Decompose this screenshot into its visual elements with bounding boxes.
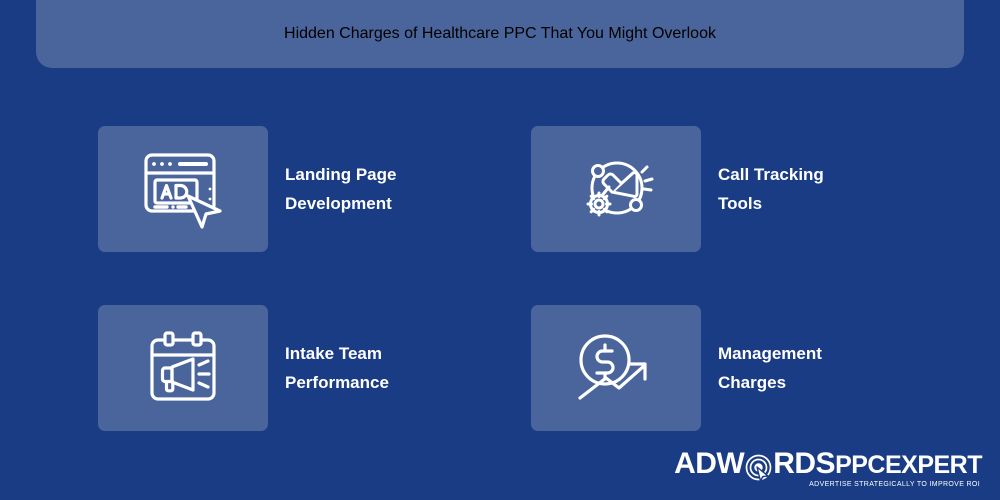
icon-card (98, 126, 268, 252)
icon-card (531, 305, 701, 431)
feature-label-line1: Landing Page (285, 160, 396, 189)
feature-item-management-charges[interactable]: Management Charges (531, 305, 934, 431)
feature-label-line2: Development (285, 189, 396, 218)
feature-label-line1: Call Tracking (718, 160, 824, 189)
feature-label-line2: Charges (718, 368, 822, 397)
bullseye-target-icon (745, 454, 772, 481)
feature-item-call-tracking-tools[interactable]: Call Tracking Tools (531, 126, 934, 252)
calendar-megaphone-icon (143, 328, 223, 408)
feature-item-landing-page-development[interactable]: Landing Page Development (98, 126, 501, 252)
page-title: Hidden Charges of Healthcare PPC That Yo… (284, 25, 716, 43)
dollar-growth-arrow-icon (572, 328, 660, 408)
feature-label-line1: Management (718, 339, 822, 368)
features-grid: Landing Page Development (98, 126, 934, 431)
megaphone-network-gear-icon (573, 148, 659, 230)
feature-label-line1: Intake Team (285, 339, 389, 368)
logo-tagline: ADVERTISE STRATEGICALLY TO IMPROVE ROI (809, 481, 980, 488)
feature-label: Management Charges (718, 339, 822, 397)
ad-browser-cursor-icon (140, 149, 226, 229)
icon-card (531, 126, 701, 252)
icon-card (98, 305, 268, 431)
logo-text-rds: RDS (773, 449, 835, 479)
brand-logo: ADW RDS PPCEXPERT ADVERTISE STRATEGICALL… (674, 449, 982, 488)
logo-text-ppcexpert: PPCEXPERT (835, 453, 982, 478)
feature-label-line2: Performance (285, 368, 389, 397)
feature-label: Intake Team Performance (285, 339, 389, 397)
header-banner: Hidden Charges of Healthcare PPC That Yo… (36, 0, 964, 68)
feature-label: Landing Page Development (285, 160, 396, 218)
feature-item-intake-team-performance[interactable]: Intake Team Performance (98, 305, 501, 431)
feature-label: Call Tracking Tools (718, 160, 824, 218)
logo-text-adw: ADW (674, 449, 744, 479)
logo-wordmark: ADW RDS PPCEXPERT (674, 449, 982, 479)
feature-label-line2: Tools (718, 189, 824, 218)
